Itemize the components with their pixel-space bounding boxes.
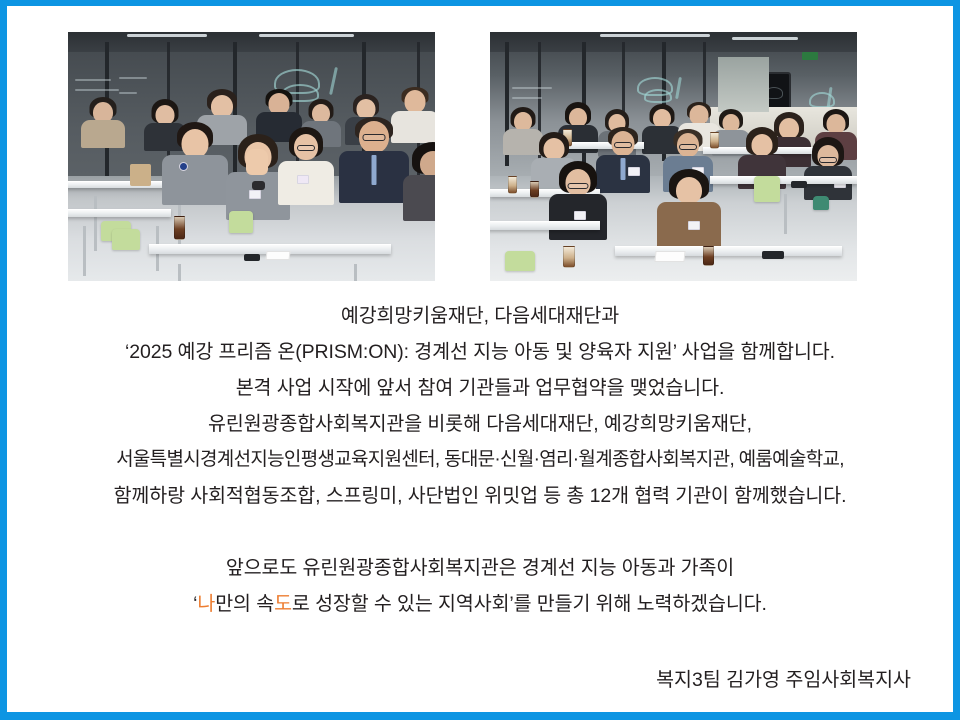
closing-suffix-text: 로 성장할 수 있는 지역사회’를 만들기 위해 노력하겠습니다. — [292, 593, 767, 615]
paragraph-spacer — [7, 514, 953, 550]
closing-line-2: ‘나만의 속도로 성장할 수 있는 지역사회’를 만들기 위해 노력하겠습니다. — [7, 586, 953, 622]
body-line-2: ‘2025 예강 프리즘 온(PRISM:ON): 경계선 지능 아동 및 양육… — [7, 334, 953, 370]
photo-row — [68, 32, 857, 281]
body-line-4: 유린원광종합사회복지관을 비롯해 다음세대재단, 예강희망키움재단, — [7, 406, 953, 442]
body-line-3: 본격 사업 시작에 앞서 참여 기관들과 업무협약을 맺었습니다. — [7, 370, 953, 406]
body-copy: 예강희망키움재단, 다음세대재단과 ‘2025 예강 프리즘 온(PRISM:O… — [7, 298, 953, 622]
body-line-5: 서울특별시경계선지능인평생교육지원센터, 동대문·신월·염리·월계종합사회복지관… — [7, 442, 953, 478]
seminar-audience-left-photo — [68, 32, 435, 281]
closing-highlight-na: 나 — [197, 593, 215, 615]
closing-mid-text: 만의 속 — [215, 593, 274, 615]
author-signature: 복지3팀 김가영 주임사회복지사 — [656, 666, 911, 694]
body-line-1: 예강희망키움재단, 다음세대재단과 — [7, 298, 953, 334]
closing-line-1: 앞으로도 유린원광종합사회복지관은 경계선 지능 아동과 가족이 — [7, 550, 953, 586]
slide-frame: 예강희망키움재단, 다음세대재단과 ‘2025 예강 프리즘 온(PRISM:O… — [0, 0, 960, 720]
body-line-6: 함께하랑 사회적협동조합, 스프링미, 사단법인 위밋업 등 총 12개 협력 … — [7, 478, 953, 514]
closing-highlight-do: 도 — [274, 593, 292, 615]
seminar-audience-right-photo — [490, 32, 857, 281]
